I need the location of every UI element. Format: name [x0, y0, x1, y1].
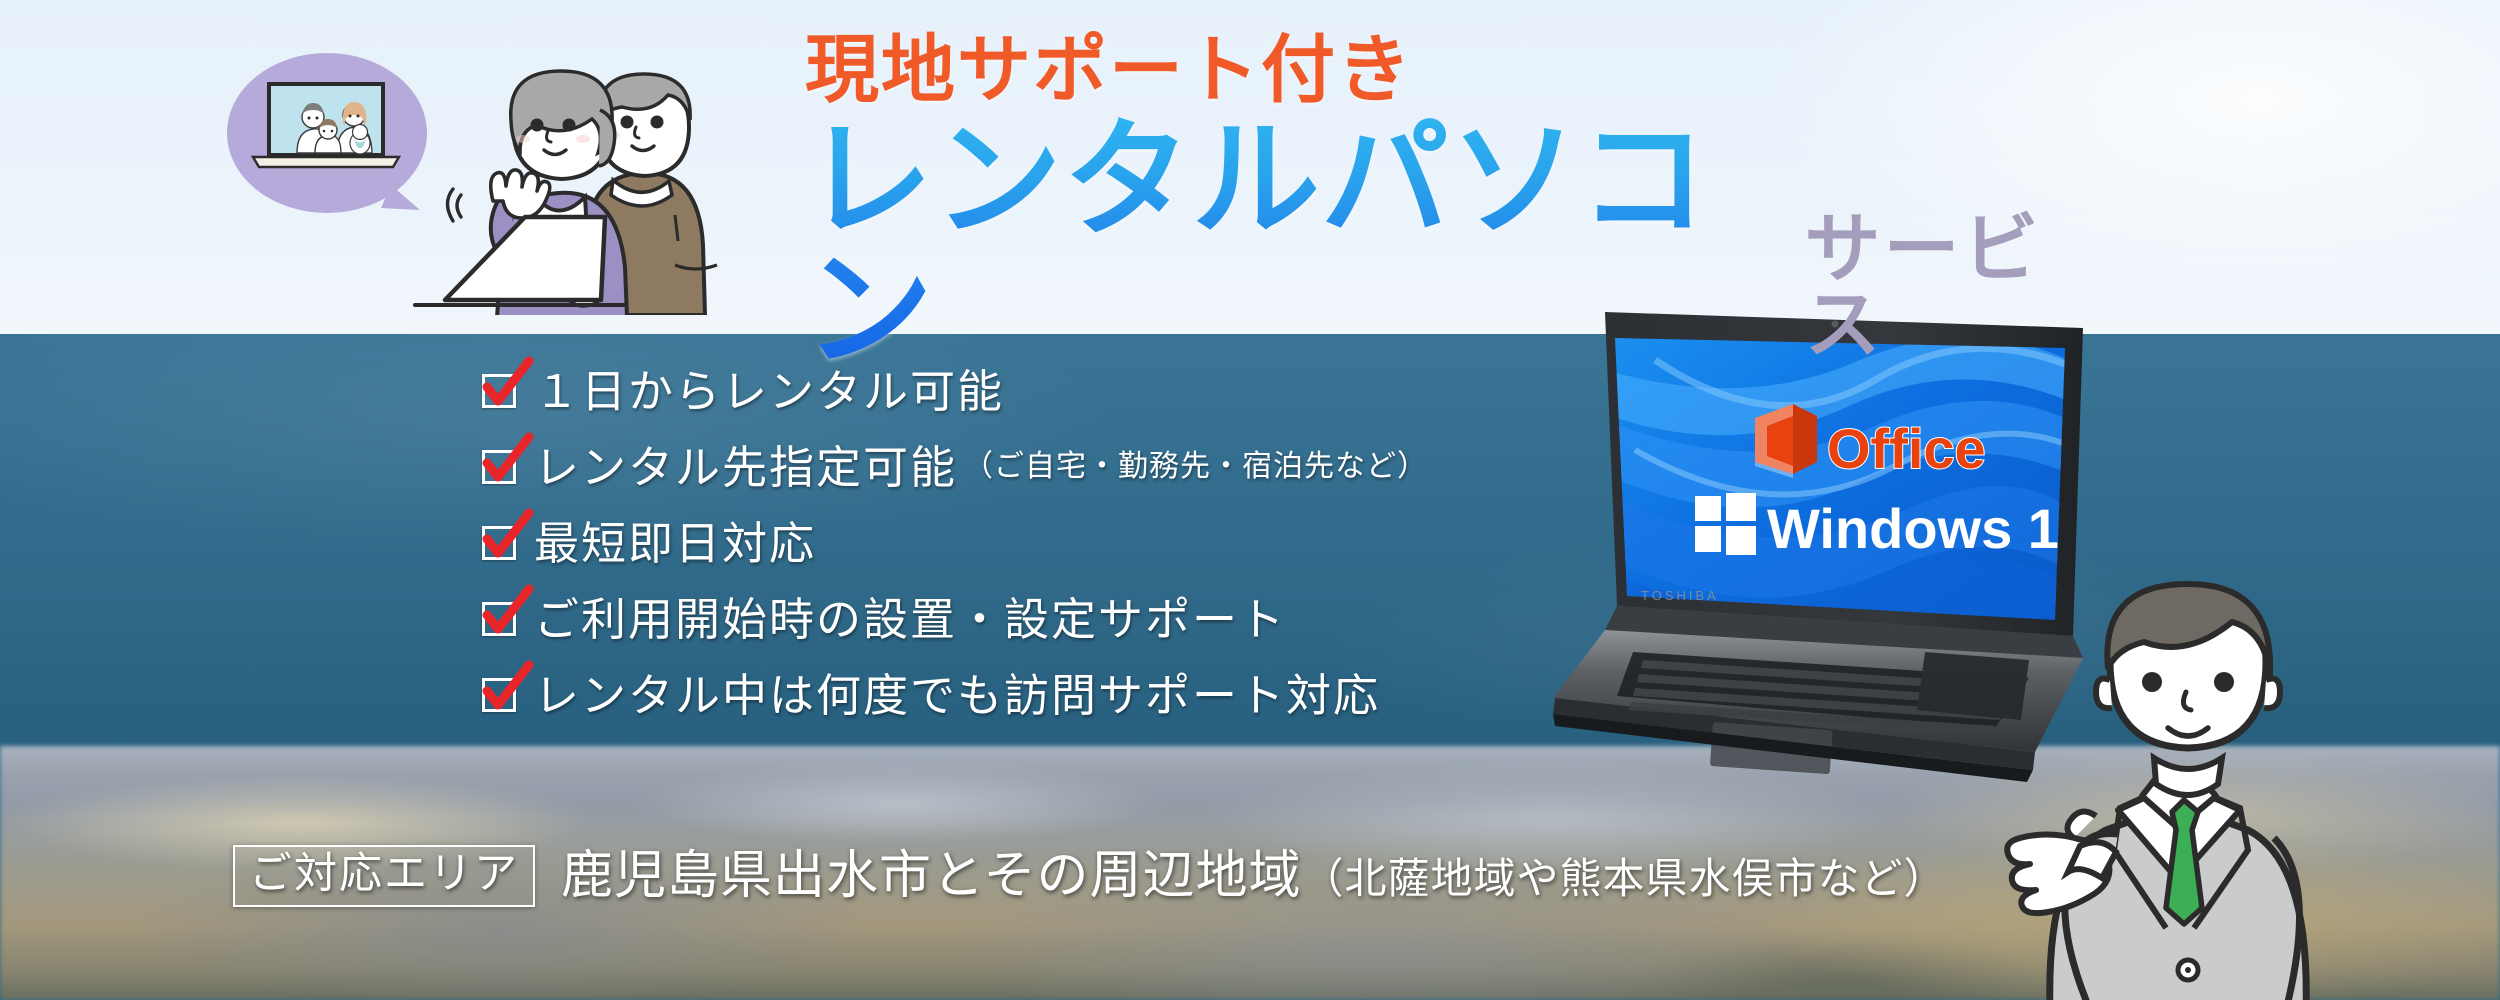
laptop-brand-label: TOSHIBA — [1641, 588, 1719, 603]
couple-laptop-icon — [415, 217, 625, 305]
checkbox-checked-icon — [482, 374, 516, 408]
checkbox-checked-icon — [482, 602, 516, 636]
list-item: レンタル先指定可能 （ご自宅・勤務先・宿泊先など） — [482, 436, 1428, 498]
feature-label: レンタル中は何度でも訪問サポート対応 — [534, 673, 1380, 718]
area-badge-label: ご対応エリア — [233, 845, 535, 907]
feature-label: レンタル先指定可能 — [534, 445, 957, 490]
feature-label: １日からレンタル可能 — [534, 369, 1004, 414]
feature-note: （ご自宅・勤務先・宿泊先など） — [963, 452, 1428, 482]
list-item: 最短即日対応 — [482, 512, 1428, 574]
headline-title: レンタルパソコン — [805, 116, 1786, 377]
checkbox-checked-icon — [482, 526, 516, 560]
feature-label: 最短即日対応 — [534, 521, 816, 566]
headline-subtitle: 現地サポート付き — [805, 32, 2105, 110]
service-area-block: ご対応エリア 鹿児島県出水市とその周辺地域（北薩地域や熊本県水俣市など） — [233, 845, 1946, 907]
banner-root: 現地サポート付き レンタルパソコン サービス — [0, 0, 2500, 1000]
speech-bubble-icon — [227, 53, 427, 213]
feature-list: １日からレンタル可能 レンタル先指定可能 （ご自宅・勤務先・宿泊先など） 最短即… — [482, 360, 1428, 740]
checkbox-checked-icon — [482, 678, 516, 712]
list-item: レンタル中は何度でも訪問サポート対応 — [482, 664, 1428, 726]
svg-text:Office: Office — [1827, 417, 1986, 480]
checkbox-checked-icon — [482, 450, 516, 484]
area-region-label: 鹿児島県出水市とその周辺地域（北薩地域や熊本県水俣市など） — [561, 850, 1946, 902]
area-region-main: 鹿児島県出水市とその周辺地域 — [561, 846, 1301, 906]
headline-suffix: サービス — [1804, 211, 2105, 377]
headline-block: 現地サポート付き レンタルパソコン サービス — [805, 32, 2105, 377]
staff-illustration — [1930, 550, 2500, 1000]
list-item: １日からレンタル可能 — [482, 360, 1428, 422]
list-item: ご利用開始時の設置・設定サポート — [482, 588, 1428, 650]
area-region-note: （北薩地域や熊本県水俣市など） — [1301, 854, 1946, 903]
elderly-couple-illustration — [205, 15, 725, 315]
feature-label: ご利用開始時の設置・設定サポート — [534, 597, 1286, 642]
